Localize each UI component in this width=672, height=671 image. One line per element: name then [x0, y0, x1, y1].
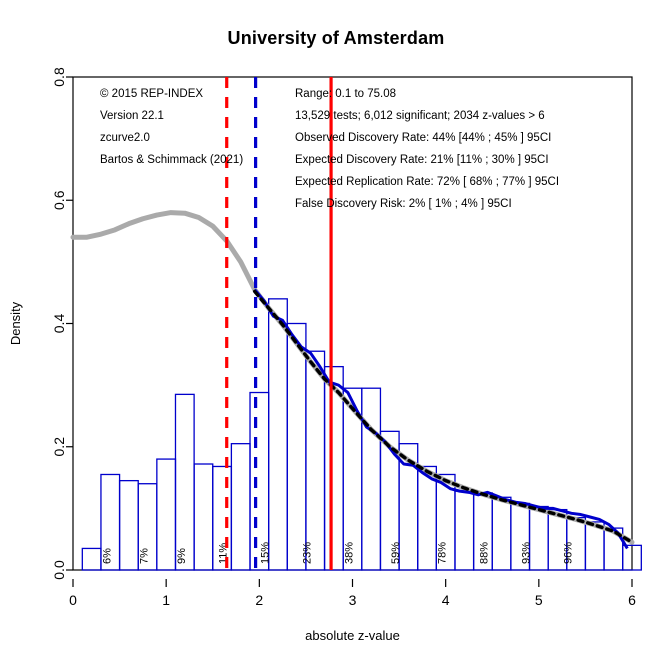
annotation-right-line: Observed Discovery Rate: 44% [44% ; 45% …	[295, 132, 551, 144]
percent-label: 88%	[479, 542, 491, 564]
y-axis-label: Density	[8, 301, 23, 345]
percent-label: 93%	[521, 542, 533, 564]
chart-canvas: 0.00.20.40.60.8Density0123456absolute z-…	[0, 0, 672, 671]
y-tick-label: 0.2	[51, 437, 67, 457]
percent-label: 59%	[390, 542, 402, 564]
histogram-bar	[194, 464, 213, 570]
annotation-right-line: Expected Replication Rate: 72% [ 68% ; 7…	[295, 176, 559, 188]
x-tick-label: 6	[628, 592, 636, 608]
x-axis: 0123456absolute z-value	[69, 579, 636, 643]
zcurve-plot: University of Amsterdam 0.00.20.40.60.8D…	[0, 0, 672, 671]
x-tick-label: 2	[255, 592, 263, 608]
x-tick-label: 1	[162, 592, 170, 608]
percent-label: 38%	[344, 542, 356, 564]
histogram-bars	[82, 299, 641, 570]
y-tick-label: 0.8	[51, 67, 67, 87]
histogram-bar	[455, 491, 474, 570]
percent-label: 78%	[437, 542, 449, 564]
annotation-left-line: Version 22.1	[100, 110, 164, 122]
model-fit-curve	[255, 291, 632, 542]
annotation-right-line: False Discovery Risk: 2% [ 1% ; 4% ] 95C…	[295, 198, 512, 210]
percent-labels: 6%7%9%11%15%23%38%59%78%88%93%96%	[101, 542, 574, 564]
x-tick-label: 3	[349, 592, 357, 608]
histogram-bar	[492, 497, 511, 570]
observed-fit-overlay	[255, 290, 628, 549]
histogram-bar	[287, 324, 306, 571]
annotation-left-line: zcurve2.0	[100, 132, 150, 144]
histogram-bar	[231, 444, 250, 570]
histogram-bar	[82, 548, 101, 570]
percent-label: 23%	[302, 542, 314, 564]
histogram-bar	[418, 466, 437, 570]
y-tick-label: 0.4	[51, 314, 67, 334]
histogram-bar	[175, 394, 194, 570]
x-axis-label: absolute z-value	[305, 628, 400, 643]
annotation-left-line: Bartos & Schimmack (2021)	[100, 154, 243, 166]
percent-label: 7%	[139, 548, 151, 564]
x-tick-label: 0	[69, 592, 77, 608]
y-tick-label: 0.6	[51, 190, 67, 210]
percent-label: 9%	[176, 548, 188, 564]
x-tick-label: 4	[442, 592, 450, 608]
annotation-right-line: 13,529 tests; 6,012 significant; 2034 z-…	[295, 110, 545, 122]
histogram-bar	[157, 459, 176, 570]
histogram-bar	[269, 299, 288, 570]
annotation-right-line: Range: 0.1 to 75.08	[295, 88, 396, 100]
histogram-bar	[306, 351, 325, 570]
y-axis: 0.00.20.40.60.8Density	[8, 67, 73, 580]
annotation-right-line: Expected Discovery Rate: 21% [11% ; 30% …	[295, 154, 549, 166]
percent-label: 96%	[562, 542, 574, 564]
x-tick-label: 5	[535, 592, 543, 608]
histogram-bar	[362, 388, 381, 570]
histogram-bar	[120, 481, 139, 570]
percent-label: 15%	[260, 542, 272, 564]
percent-label: 6%	[101, 548, 113, 564]
annotation-left-line: © 2015 REP-INDEX	[100, 88, 203, 100]
y-tick-label: 0.0	[51, 560, 67, 580]
